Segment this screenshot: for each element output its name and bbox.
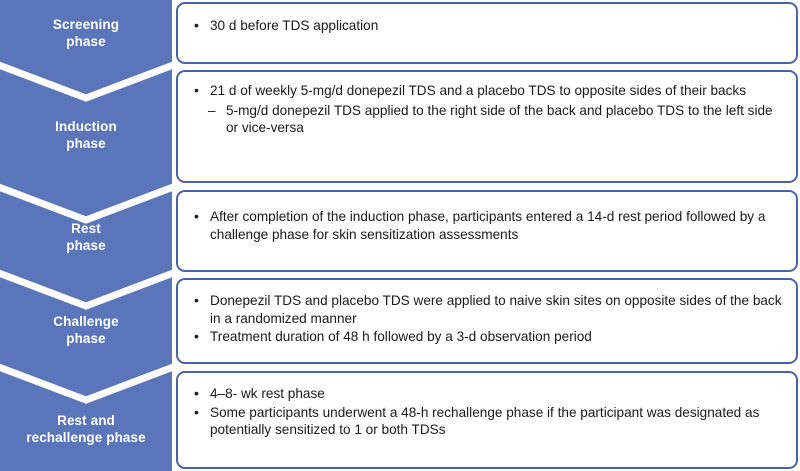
stage-box-induction: 21 d of weekly 5-mg/d donepezil TDS and … — [176, 70, 798, 183]
phase-chevron-band: Screening phase Induction phase Rest pha… — [0, 0, 172, 471]
bullet-list-rest: After completion of the induction phase,… — [192, 208, 786, 243]
bullet-list-induction: 21 d of weekly 5-mg/d donepezil TDS and … — [192, 82, 786, 137]
bullet-list-rest-and-rechallenge: 4–8- wk rest phase Some participants und… — [192, 385, 786, 439]
bullet-item: 21 d of weekly 5-mg/d donepezil TDS and … — [192, 82, 786, 100]
bullet-item: 4–8- wk rest phase — [192, 385, 786, 403]
bullet-item: After completion of the induction phase,… — [192, 208, 786, 243]
bullet-item: 30 d before TDS application — [192, 17, 786, 35]
bullet-list-challenge: Donepezil TDS and placebo TDS were appli… — [192, 292, 786, 346]
stage-box-rest: After completion of the induction phase,… — [176, 190, 798, 272]
bullet-subitem: 5-mg/d donepezil TDS applied to the righ… — [192, 102, 786, 137]
bullet-item: Some participants underwent a 48-h recha… — [192, 404, 786, 439]
stage-box-rest-and-rechallenge: 4–8- wk rest phase Some participants und… — [176, 371, 798, 469]
chevron-band-graphic — [0, 0, 172, 471]
bullet-item: Treatment duration of 48 h followed by a… — [192, 328, 786, 346]
process-flow-diagram: Screening phase Induction phase Rest pha… — [0, 0, 800, 471]
stage-box-screening: 30 d before TDS application — [176, 2, 798, 64]
stage-box-challenge: Donepezil TDS and placebo TDS were appli… — [176, 278, 798, 364]
bullet-item: Donepezil TDS and placebo TDS were appli… — [192, 292, 786, 327]
bullet-list-screening: 30 d before TDS application — [192, 17, 786, 35]
